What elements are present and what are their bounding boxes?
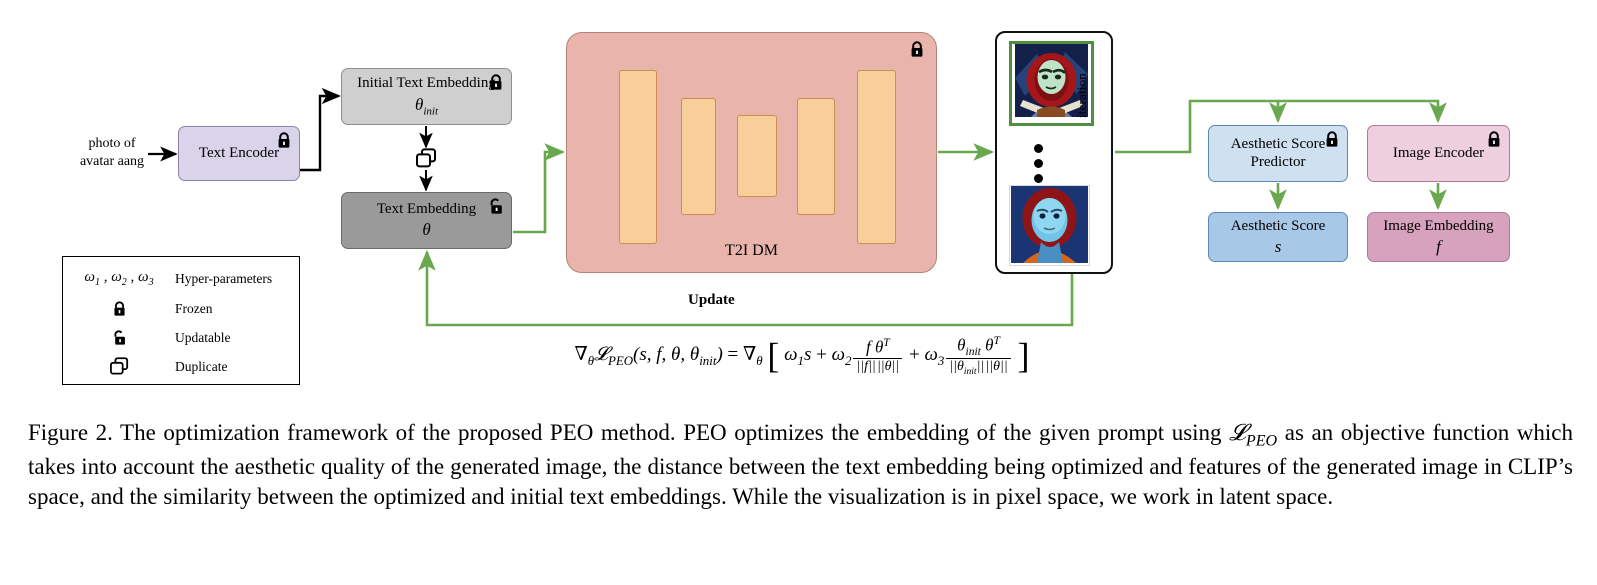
legend-row-updatable: Updatable	[63, 324, 299, 351]
node-aesthetic-score-predictor-label-1: Aesthetic Score	[1231, 136, 1326, 153]
legend-row-hyper-parameters: ω1 , ω2 , ω3 Hyper-parameters	[63, 265, 299, 292]
unet-bar-2	[681, 98, 716, 215]
node-image-embedding-symbol: f	[1436, 237, 1441, 257]
node-image-embedding-label: Image Embedding	[1383, 218, 1493, 235]
node-t2i-dm-label: T2I DM	[567, 242, 936, 260]
frozen-lock-icon	[1486, 131, 1502, 148]
node-initial-text-embedding-label: Initial Text Embedding	[357, 75, 496, 92]
node-text-embedding-label: Text Embedding	[377, 201, 476, 218]
node-text-encoder-label: Text Encoder	[199, 145, 279, 162]
legend-label-hyper-parameters: Hyper-parameters	[175, 271, 272, 287]
frozen-lock-icon	[488, 74, 504, 91]
node-initial-text-embedding[interactable]: Initial Text Embedding θinit	[341, 68, 512, 125]
formula-plus-2: +	[909, 344, 920, 365]
prompt-text: photo of avatar aang	[52, 135, 172, 170]
formula-bracket-open: [	[767, 335, 779, 375]
figure-canvas: photo of avatar aang Text Encoder Initia…	[0, 0, 1597, 585]
formula-coef-3: ω3	[924, 344, 944, 365]
unet-bar-5	[857, 70, 896, 244]
legend-label-duplicate: Duplicate	[175, 359, 227, 375]
omega-symbols-icon: ω1 , ω2 , ω3	[63, 269, 175, 288]
legend-label-frozen: Frozen	[175, 301, 213, 317]
frozen-lock-icon	[909, 41, 925, 58]
unet-bar-1	[619, 70, 657, 244]
node-aesthetic-score[interactable]: Aesthetic Score s	[1208, 212, 1348, 262]
unet-bar-3	[737, 115, 777, 197]
frozen-lock-icon	[63, 301, 175, 317]
node-text-encoder[interactable]: Text Encoder	[178, 126, 300, 181]
formula-frac2-num: f θT	[853, 336, 902, 358]
frozen-lock-icon	[1324, 131, 1340, 148]
node-initial-text-embedding-symbol: θinit	[415, 95, 438, 118]
duplicate-icon	[415, 148, 438, 169]
formula-coef-2: ω2	[832, 344, 852, 365]
node-aesthetic-score-predictor[interactable]: Aesthetic Score Predictor	[1208, 125, 1348, 182]
formula-lhs: ∇θ𝓛PEO(s, f, θ, θinit)	[575, 344, 723, 365]
node-aesthetic-score-symbol: s	[1275, 237, 1282, 257]
formula-plus-1: +	[816, 344, 827, 365]
node-image-encoder-label: Image Encoder	[1393, 145, 1484, 162]
formula-fraction-3: θinit θT||θinit|| ||θ||	[946, 334, 1010, 377]
iteration-panel: iteration	[995, 31, 1113, 274]
generated-image-last	[1009, 185, 1090, 266]
formula-equals: =	[728, 344, 743, 365]
legend-box: ω1 , ω2 , ω3 Hyper-parameters Frozen Upd…	[62, 256, 300, 385]
legend-row-frozen: Frozen	[63, 295, 299, 322]
legend-row-duplicate: Duplicate	[63, 353, 299, 380]
prompt-line-2: avatar aang	[52, 153, 172, 171]
iteration-axis-label: iteration	[1075, 73, 1090, 118]
updatable-lock-icon	[63, 330, 175, 346]
formula-grad: ∇θ	[743, 344, 763, 365]
formula-bracket-close: ]	[1017, 335, 1029, 375]
legend-label-updatable: Updatable	[175, 330, 230, 346]
node-t2i-dm[interactable]: T2I DM	[566, 32, 937, 273]
formula-frac2-den: ||f|| ||θ||	[853, 358, 902, 375]
node-image-encoder[interactable]: Image Encoder	[1367, 125, 1510, 182]
unet-bar-4	[797, 98, 835, 215]
duplicate-icon	[63, 357, 175, 376]
formula-frac3-num: θinit θT	[946, 334, 1010, 358]
prompt-line-1: photo of	[52, 135, 172, 153]
formula-fraction-2: f θT||f|| ||θ||	[853, 336, 902, 375]
caption-math-symbol: 𝓛PEO	[1229, 420, 1277, 445]
node-aesthetic-score-predictor-label-2: Predictor	[1251, 154, 1306, 171]
update-label: Update	[688, 292, 735, 309]
node-text-embedding[interactable]: Text Embedding θ	[341, 192, 512, 249]
frozen-lock-icon	[276, 132, 292, 149]
loss-formula: ∇θ𝓛PEO(s, f, θ, θinit) = ∇θ [ ω1s + ω2f …	[472, 334, 1132, 377]
updatable-lock-icon	[488, 198, 504, 215]
node-image-embedding[interactable]: Image Embedding f	[1367, 212, 1510, 262]
caption-figure-label: Figure 2.	[28, 420, 113, 445]
formula-term-1: ω1s	[784, 344, 811, 365]
formula-frac3-den: ||θinit|| ||θ||	[946, 358, 1010, 377]
figure-caption: Figure 2. The optimization framework of …	[28, 418, 1573, 513]
caption-line-1: The optimization framework of the propos…	[120, 420, 1222, 445]
node-aesthetic-score-label: Aesthetic Score	[1231, 218, 1326, 235]
ellipsis-dots	[1034, 138, 1046, 189]
node-text-embedding-symbol: θ	[422, 220, 430, 240]
